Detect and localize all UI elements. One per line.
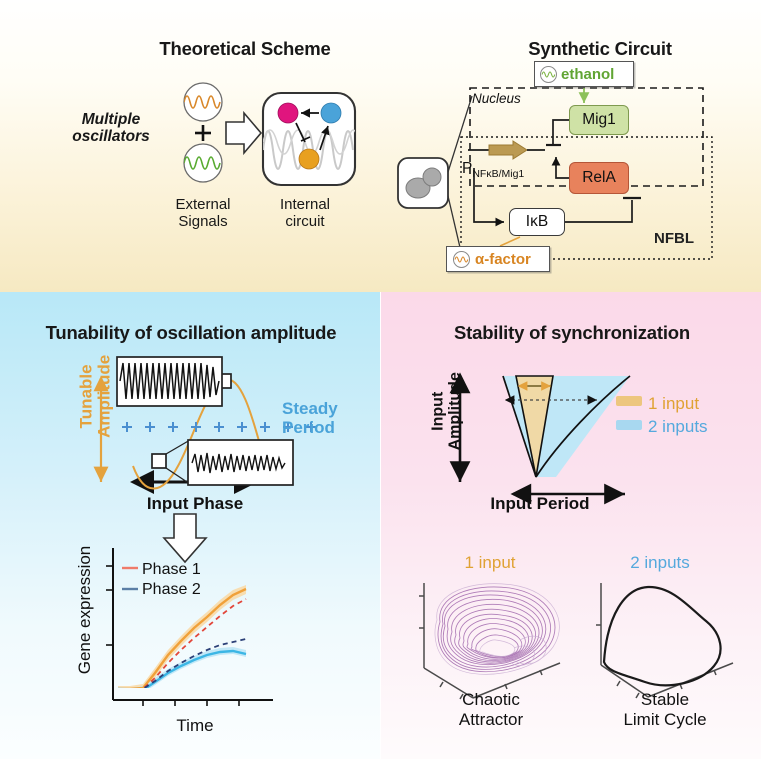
attractor-heading-1-input: 1 input [430,553,550,573]
attractor-caption-chaotic: ChaoticAttractor [418,690,564,729]
legend-label-2-inputs: 2 inputs [648,417,708,437]
green-wave-circle-icon [539,65,558,84]
promoter-label-main: P [462,160,472,177]
multiple-oscillators-label: Multipleoscillators [56,111,166,146]
steady-period-label: SteadyPeriod [282,400,378,437]
attractor-heading-2-inputs: 2 inputs [600,553,720,573]
gene-node-rela[interactable]: RelA [569,162,629,194]
input-node-ethanol[interactable]: ethanol [534,61,634,87]
gene-expression-x-label: Time [110,716,280,736]
legend-label-1-input: 1 input [648,394,699,414]
panel-title-tunability: Tunability of oscillation amplitude [6,322,376,344]
gene-expression-y-label: Gene expression [75,515,95,705]
ethanol-label: ethanol [561,66,614,83]
input-amplitude-label: InputAmplitude [430,336,465,486]
tunable-amplitude-label: TunableAmplitude [78,326,115,466]
panel-title-synthetic: Synthetic Circuit [490,38,710,60]
input-period-label: Input Period [450,494,630,514]
panel-bottom-left-background [0,292,380,759]
nucleus-label: Nucleus [472,91,521,106]
internal-circuit-label: Internalcircuit [250,197,360,231]
gene-node-mig1[interactable]: Mig1 [569,105,629,135]
input-node-alpha-factor[interactable]: α-factor [446,246,550,272]
legend-label-phase1: Phase 1 [142,561,201,579]
external-signals-label: ExternalSignals [148,197,258,231]
promoter-label: PNFκB/Mig1 [462,160,524,180]
promoter-label-sub: NFκB/Mig1 [472,168,524,180]
orange-wave-circle-icon [452,250,471,269]
alpha-factor-label: α-factor [475,251,531,268]
figure-root: Theoretical Scheme Synthetic Circuit Tun… [0,0,761,759]
gene-node-ikb[interactable]: IκB [509,208,565,236]
input-phase-label: Input Phase [110,494,280,514]
panel-title-theoretical: Theoretical Scheme [130,38,360,60]
legend-label-phase2: Phase 2 [142,581,201,599]
nfbl-label: NFBL [654,230,694,247]
attractor-caption-stable: StableLimit Cycle [592,690,738,729]
